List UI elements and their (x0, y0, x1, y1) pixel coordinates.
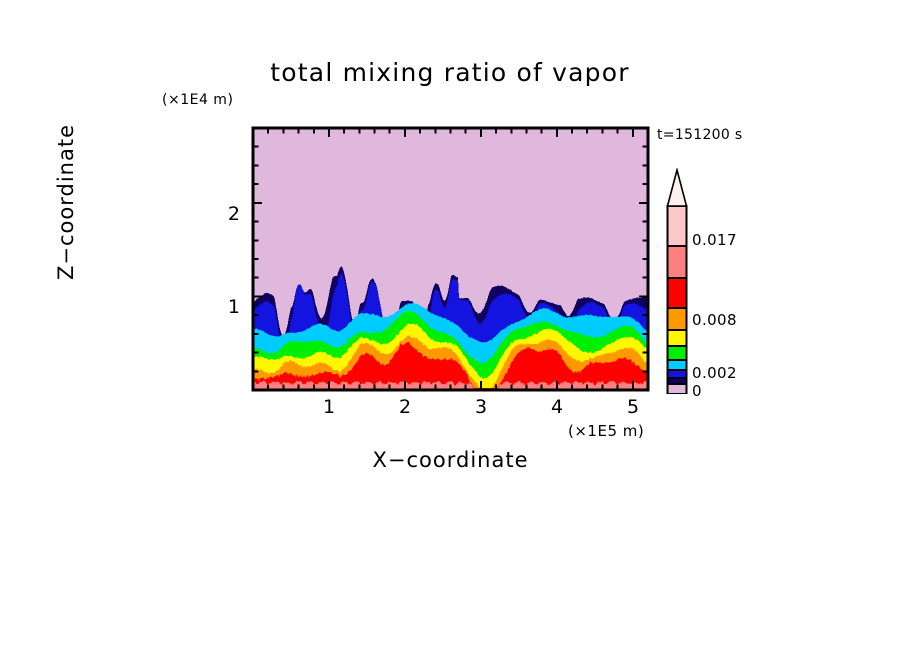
colorbar-band-yellow (668, 330, 687, 346)
colorbar-band-green (668, 346, 687, 360)
colorbar-band-orange (668, 308, 687, 330)
y-tick-label-2: 2 (200, 203, 240, 225)
z-axis-unit-label: (×1E4 m) (162, 92, 233, 108)
figure-canvas: total mixing ratio of vapor (×1E4 m) (×1… (0, 0, 904, 654)
contour-field (253, 128, 648, 390)
colorbar-band-navy (668, 378, 687, 384)
timestamp-label: t=151200 s (657, 127, 742, 143)
colorbar-tick-label-2: 0.002 (692, 364, 737, 382)
colorbar-tick-label-3: 0 (692, 382, 702, 400)
page-title: total mixing ratio of vapor (248, 58, 652, 87)
x-tick-label-5: 5 (613, 396, 653, 418)
colorbar-band-blue (668, 370, 687, 378)
colorbar-band-cyan (668, 360, 687, 370)
y-axis-title: Z−coordinate (54, 72, 78, 332)
colorbar (666, 168, 688, 394)
colorbar-band-red (668, 278, 687, 308)
x-tick-label-1: 1 (309, 396, 349, 418)
colorbar-tick-label-0: 0.017 (692, 231, 737, 249)
y-tick-label-1: 1 (200, 296, 240, 318)
x-tick-label-2: 2 (385, 396, 425, 418)
colorbar-band-salmon (668, 246, 687, 278)
contour-plot-area (253, 128, 648, 390)
x-tick-label-3: 3 (461, 396, 501, 418)
x-axis-unit-label: (×1E5 m) (568, 422, 644, 440)
x-axis-title: X−coordinate (253, 448, 648, 472)
x-tick-label-4: 4 (537, 396, 577, 418)
colorbar-band-pale-pink (668, 206, 687, 246)
colorbar-tick-label-1: 0.008 (692, 311, 737, 329)
colorbar-swatches (666, 168, 688, 394)
colorbar-top-arrow (668, 170, 687, 206)
colorbar-band-lavender-lowest (668, 384, 687, 394)
